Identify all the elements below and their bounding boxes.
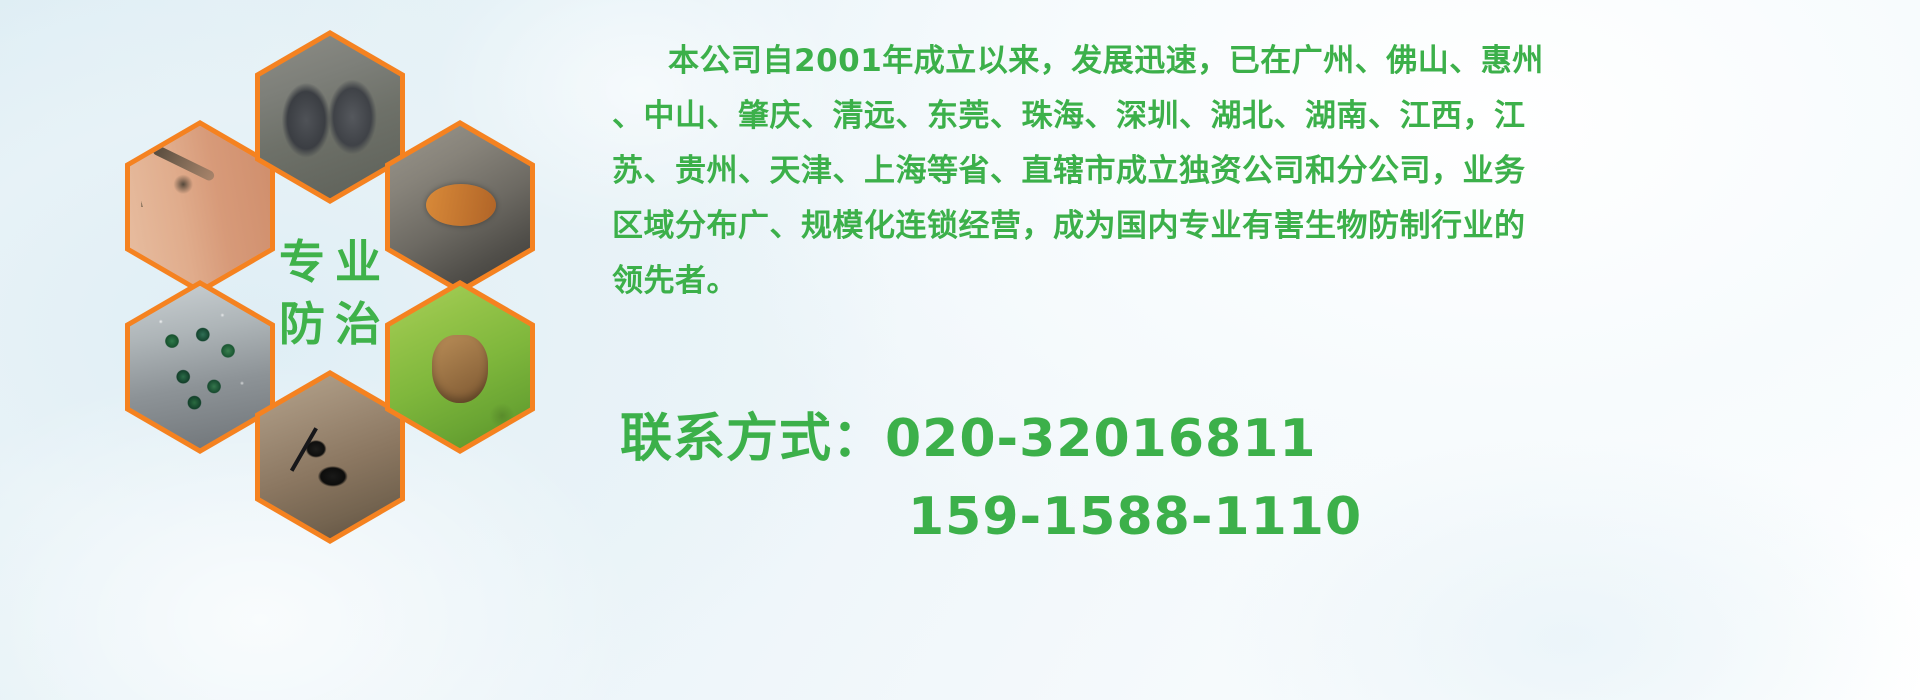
description-line-2: 、中山、肇庆、清远、东莞、珠海、深圳、湖北、湖南、江西，江: [612, 89, 1912, 144]
rats-photo: [260, 36, 400, 198]
honeycomb-center-slogan: 专业 防治: [245, 195, 415, 391]
description-line-4: 区域分布广、规模化连锁经营，成为国内专业有害生物防制行业的: [612, 199, 1912, 254]
ant-photo: [260, 376, 400, 538]
hex-cell-rats[interactable]: [255, 30, 405, 204]
contact-block: 联系方式：020-32016811 159-1588-1110: [620, 400, 1920, 556]
description-line-1: 本公司自2001年成立以来，发展迅速，已在广州、佛山、惠州: [612, 34, 1912, 89]
description-line-3: 苏、贵州、天津、上海等省、直辖市成立独资公司和分公司，业务: [612, 144, 1912, 199]
slogan-line-1: 专业: [269, 234, 391, 290]
promo-banner: 专业 防治 本公司自2001年成立以来，发展迅速，已在广州、佛山、惠州 、中山、…: [0, 0, 1920, 700]
contact-primary-line[interactable]: 联系方式：020-32016811: [620, 400, 1920, 478]
hex-cell-ant[interactable]: [255, 370, 405, 544]
company-description: 本公司自2001年成立以来，发展迅速，已在广州、佛山、惠州 、中山、肇庆、清远、…: [612, 34, 1912, 309]
slogan-line-2: 防治: [269, 296, 391, 352]
honeycomb-photo-cluster: 专业 防治: [95, 10, 595, 570]
description-line-5: 领先者。: [612, 254, 1912, 309]
contact-secondary-line[interactable]: 159-1588-1110: [620, 478, 1920, 556]
